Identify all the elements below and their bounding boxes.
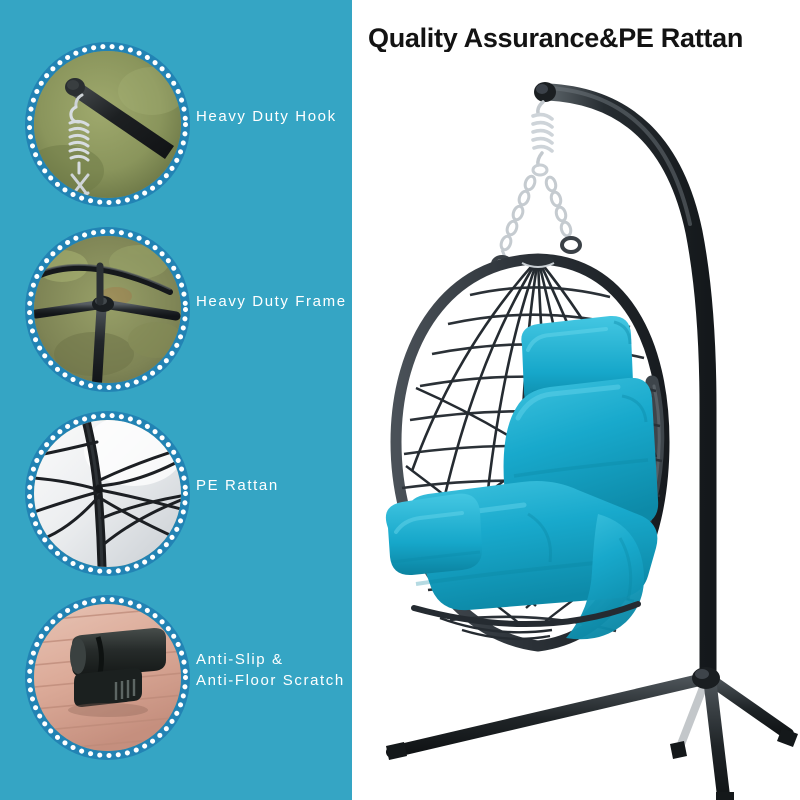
feature-heavy-duty-frame: Heavy Duty Frame xyxy=(0,227,352,409)
feature-photo-circle xyxy=(25,411,190,576)
hook-spring-on-bar-photo xyxy=(34,51,181,198)
page-title: Quality Assurance&PE Rattan xyxy=(368,23,743,54)
feature-anti-slip: Anti-Slip & Anti-Floor Scratch xyxy=(0,595,352,777)
pe-rattan-weave-closeup-photo xyxy=(34,420,181,567)
feature-pe-rattan: PE Rattan xyxy=(0,411,352,593)
anti-slip-foot-on-deck-photo xyxy=(34,604,181,751)
feature-photo-circle xyxy=(25,227,190,392)
feature-label: Heavy Duty Frame xyxy=(196,291,347,312)
hanging-egg-chair-with-stand xyxy=(352,52,800,800)
feature-photo-circle xyxy=(25,42,190,207)
feature-label: PE Rattan xyxy=(196,475,279,496)
feature-label: Heavy Duty Hook xyxy=(196,106,337,127)
feature-label: Anti-Slip & Anti-Floor Scratch xyxy=(196,649,345,691)
frame-base-on-grass-photo xyxy=(34,236,181,383)
product-feature-poster: Heavy Duty Hook xyxy=(0,0,800,800)
feature-photo-circle xyxy=(25,595,190,760)
feature-heavy-duty-hook: Heavy Duty Hook xyxy=(0,42,352,224)
